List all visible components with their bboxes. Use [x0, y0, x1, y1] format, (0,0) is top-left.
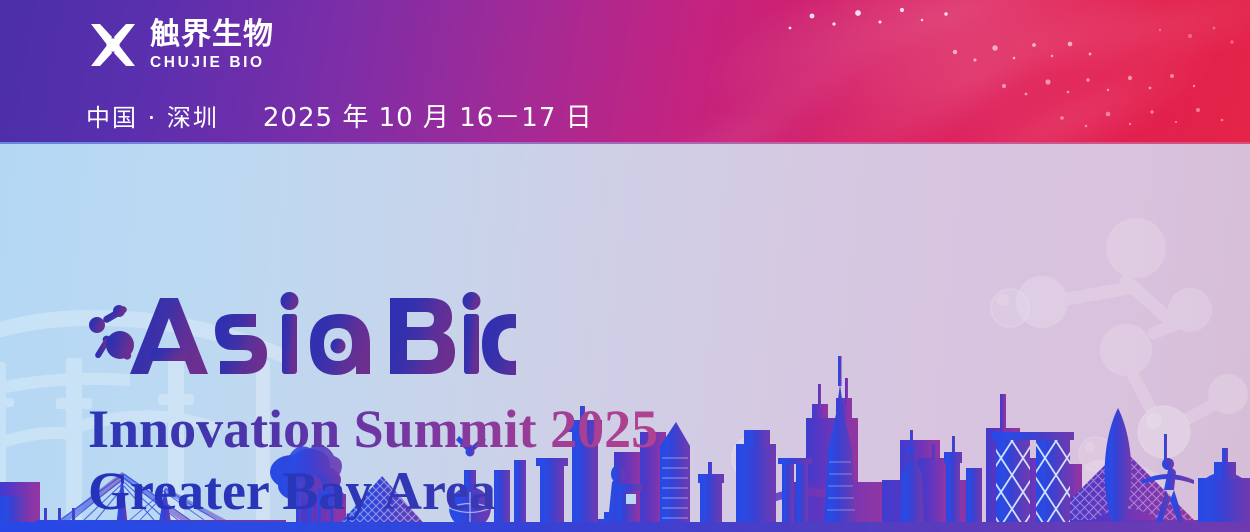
event-location: 中国 · 深圳	[86, 98, 219, 133]
logo-company-name-cn: 触界生物	[150, 20, 274, 50]
event-meta: 中国 · 深圳 2025 年 10 月 16－17 日	[86, 97, 593, 134]
banner-top-band: 触界生物 CHUJIE BIO 中国 · 深圳 2025 年 10 月 16－1…	[0, 0, 1250, 142]
event-date: 2025 年 10 月 16－17 日	[263, 97, 593, 134]
asia-bio-logotype	[86, 290, 516, 390]
event-title: Innovation Summit 2025 Greater Bay Area	[88, 400, 658, 520]
logo-company-name-en: CHUJIE BIO	[150, 55, 274, 71]
band-divider	[0, 142, 1250, 144]
company-logo: 触界生物 CHUJIE BIO	[86, 18, 274, 72]
molecule-icon	[89, 305, 134, 361]
banner-main-stage: Innovation Summit 2025 Greater Bay Area	[0, 142, 1250, 532]
chujie-x-logo-mark	[86, 18, 140, 72]
event-title-line-2: Greater Bay Area	[88, 462, 658, 520]
event-title-line-1: Innovation Summit 2025	[88, 400, 658, 458]
event-banner: 触界生物 CHUJIE BIO 中国 · 深圳 2025 年 10 月 16－1…	[0, 0, 1250, 532]
